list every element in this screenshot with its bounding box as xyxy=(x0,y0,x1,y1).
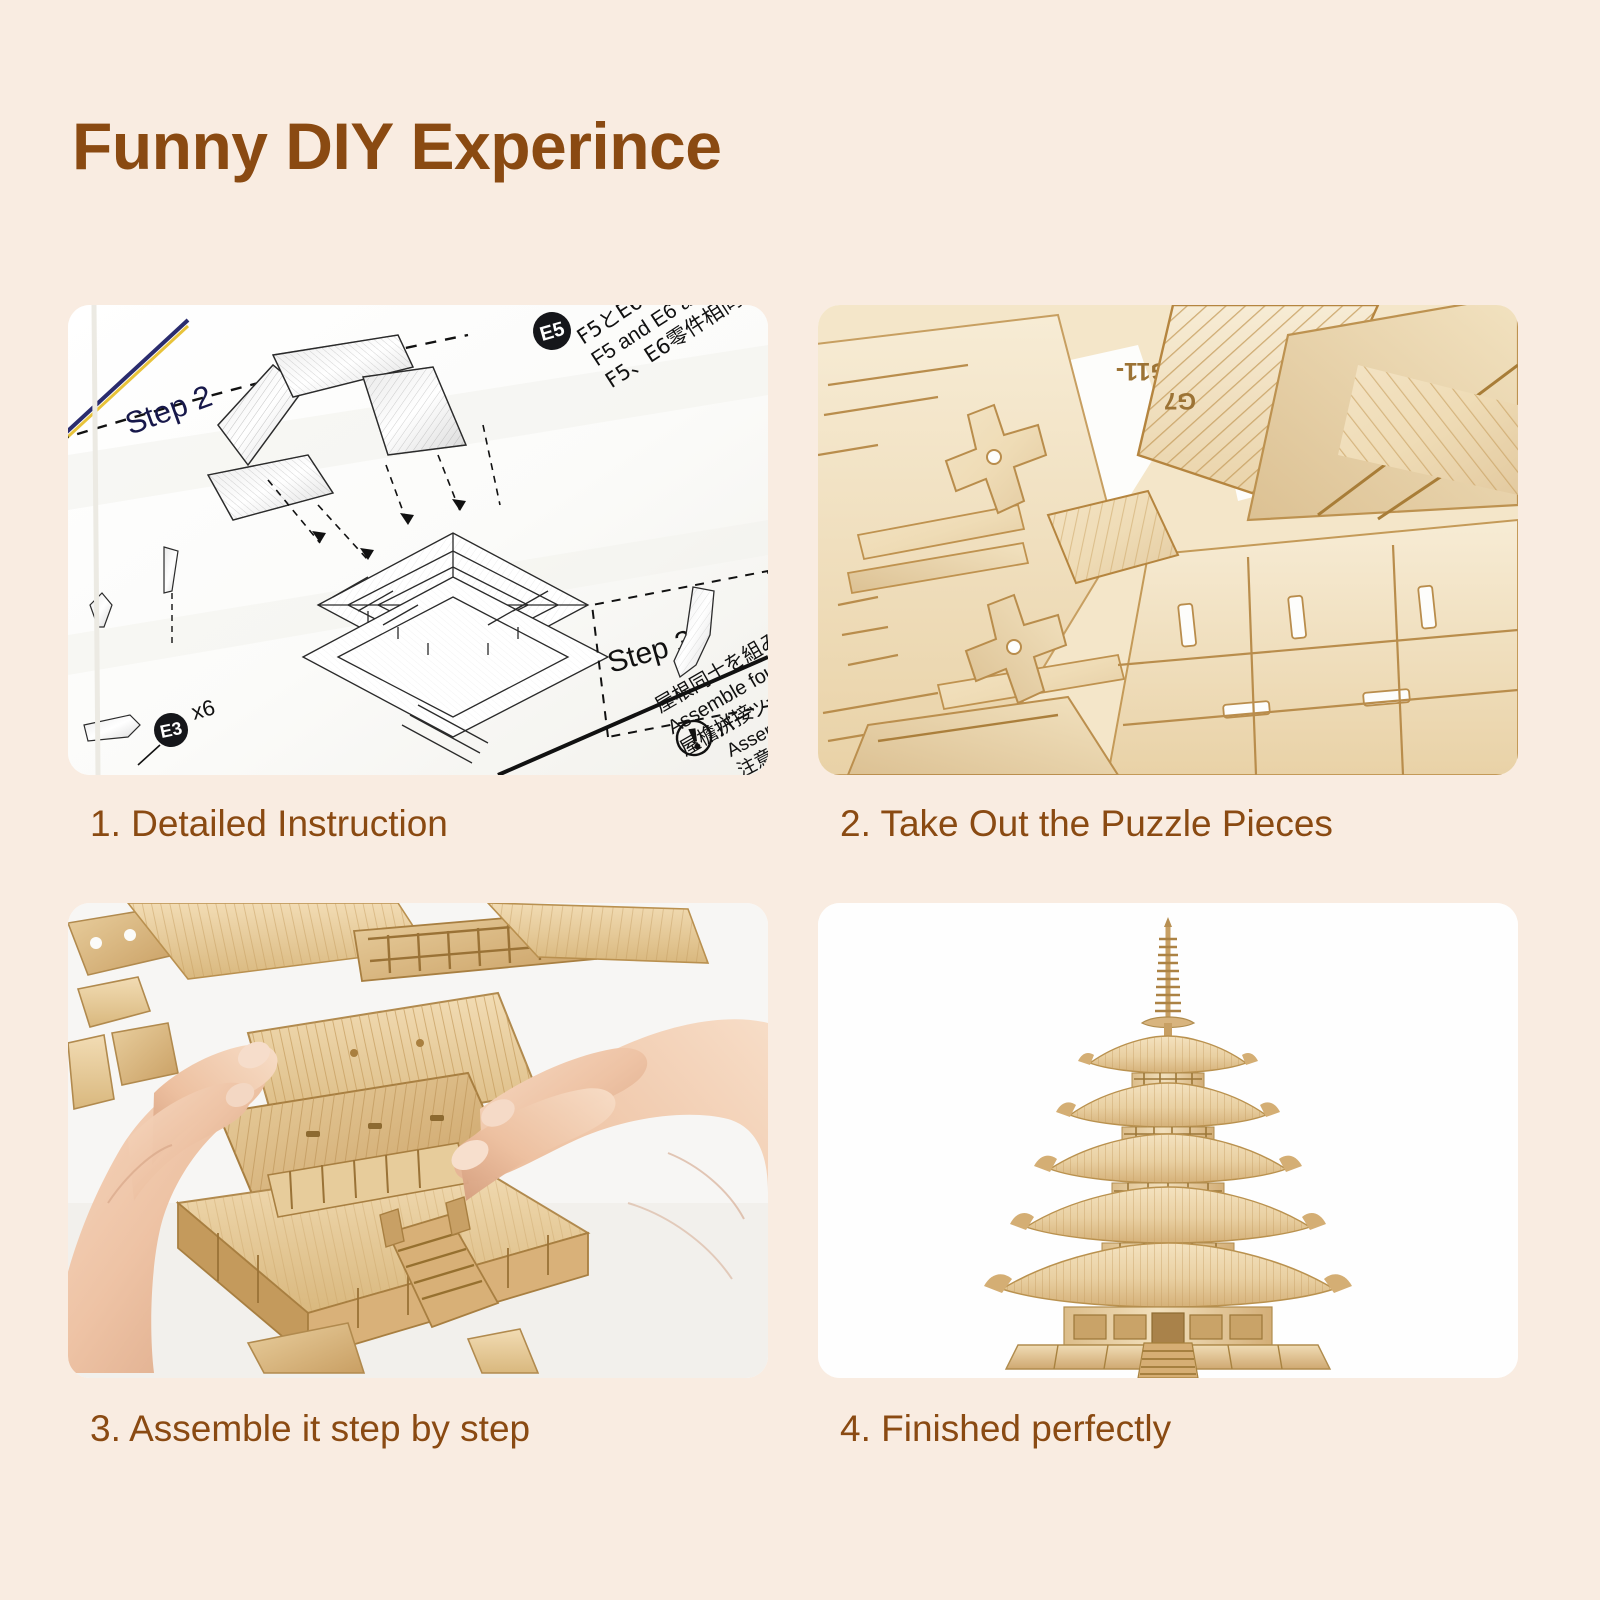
step-3-caption: 3. Assemble it step by step xyxy=(90,1408,530,1450)
finished-pagoda-illustration xyxy=(818,903,1518,1378)
step-1-cell: E5 F5とE6は同じパーツ F5 and E6 are same par F5… xyxy=(68,305,768,775)
page-title: Funny DIY Experince xyxy=(72,108,721,184)
board-label-right: G7 xyxy=(1164,387,1196,414)
step-2-cell: G11- G7 xyxy=(818,305,1518,775)
instruction-sheet-illustration: E5 F5とE6は同じパーツ F5 and E6 are same par F5… xyxy=(68,305,768,775)
step-4-caption: 4. Finished perfectly xyxy=(840,1408,1171,1450)
hands-assembly-illustration xyxy=(68,903,768,1378)
assembly-hands-photo[interactable] xyxy=(68,903,768,1378)
step-2-caption: 2. Take Out the Puzzle Pieces xyxy=(840,803,1333,845)
pagoda-ground-floor xyxy=(1064,1307,1272,1345)
puzzle-sheets-photo[interactable]: G11- G7 xyxy=(818,305,1518,775)
step-1-caption: 1. Detailed Instruction xyxy=(90,803,448,845)
finished-pagoda-photo[interactable] xyxy=(818,903,1518,1378)
steps-grid: E5 F5とE6は同じパーツ F5 and E6 are same par F5… xyxy=(68,305,1532,1485)
plywood-sheets-illustration: G11- G7 xyxy=(818,305,1518,775)
pagoda-stairs xyxy=(1138,1343,1198,1378)
step-3-cell xyxy=(68,903,768,1378)
step-4-cell xyxy=(818,903,1518,1378)
instruction-sheet-photo[interactable]: E5 F5とE6は同じパーツ F5 and E6 are same par F5… xyxy=(68,305,768,775)
